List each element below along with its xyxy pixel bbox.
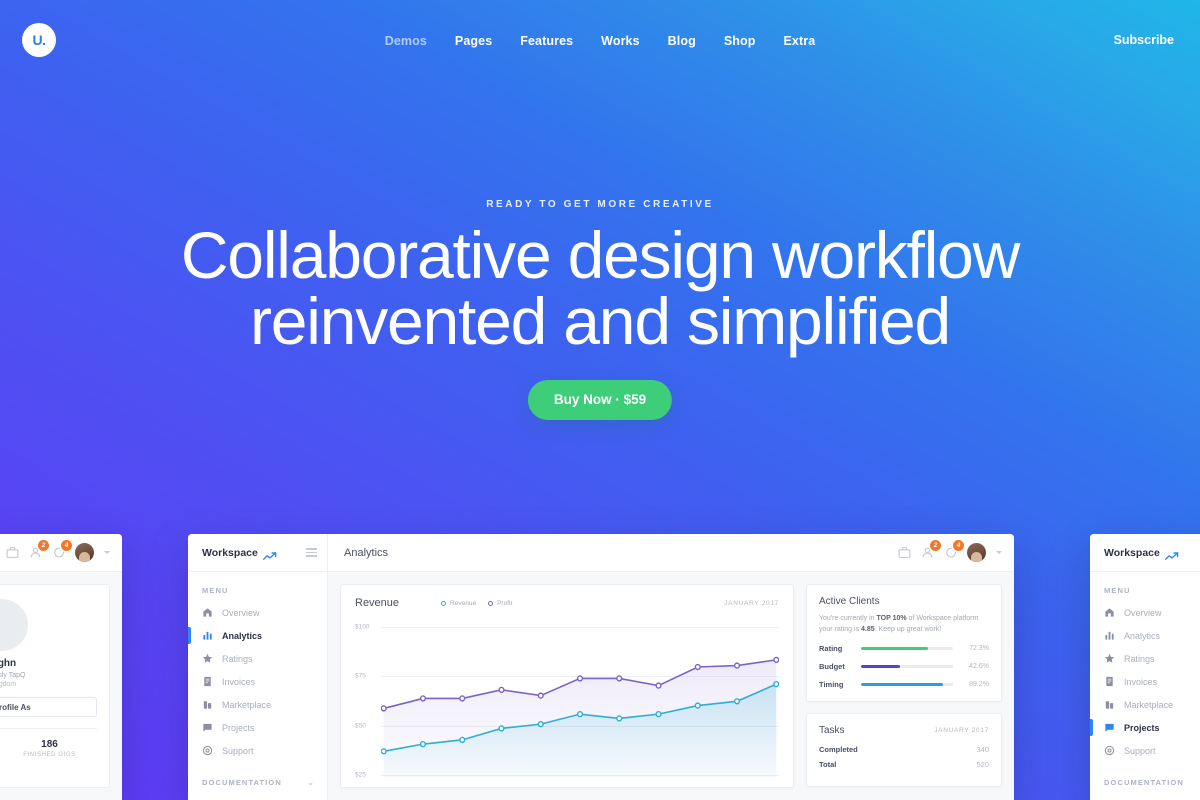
mock-right-topbar: Workspace: [1090, 534, 1200, 572]
y-tick-label: $75: [355, 673, 366, 680]
messages-badge: 4: [953, 540, 964, 551]
bar-chart-icon: [202, 630, 213, 641]
legend-item-profit[interactable]: Profit: [488, 600, 512, 607]
invoice-icon: [1104, 676, 1115, 687]
avatar[interactable]: [75, 543, 94, 562]
nav-item-works[interactable]: Works: [587, 34, 653, 48]
sidebar-item-ratings[interactable]: Ratings: [1090, 647, 1200, 670]
chart-plot-area: $100 $75 $50 $25: [355, 617, 779, 777]
sidebar-item-invoices[interactable]: Invoices: [1090, 670, 1200, 693]
profile-avatar: [0, 599, 28, 651]
buy-now-button[interactable]: Buy Now · $59: [528, 380, 672, 420]
chevron-down-icon: ⌄: [307, 778, 315, 787]
tasks-row-completed: Completed 340: [819, 745, 989, 754]
nav-item-blog[interactable]: Blog: [654, 34, 710, 48]
desc-top-percent: TOP 10%: [877, 615, 907, 622]
metric-value: 72.3%: [961, 645, 989, 652]
metric-label: Rating: [819, 644, 853, 653]
chevron-down-icon[interactable]: [104, 551, 110, 554]
sidebar-item-label: Marketplace: [1124, 700, 1173, 710]
chart-header: Revenue Revenue Profit JANUARY 2017: [355, 597, 779, 609]
active-clients-description: You're currently in TOP 10% of Workspace…: [819, 613, 989, 635]
desc-rating: 4.85: [861, 626, 875, 633]
metric-timing: Timing 89.2%: [819, 680, 989, 689]
logo-text: U.: [33, 32, 46, 48]
mock-left-topbar: 2 4: [0, 534, 122, 572]
contacts-badge: 2: [930, 540, 941, 551]
sidebar-item-label: Ratings: [222, 654, 253, 664]
sidebar-item-label: Support: [222, 746, 254, 756]
sidebar-item-label: Analytics: [222, 631, 262, 641]
lifebuoy-icon: [1104, 745, 1115, 756]
headline-line-1: Collaborative design workflow: [181, 218, 1019, 292]
briefcase-icon[interactable]: [898, 546, 911, 559]
tasks-row-value: 340: [976, 745, 989, 754]
sidebar-item-analytics[interactable]: Analytics: [188, 624, 327, 647]
sidebar-item-overview[interactable]: Overview: [188, 601, 327, 624]
chart-title: Revenue: [355, 597, 399, 609]
sidebar-item-marketplace[interactable]: Marketplace: [188, 693, 327, 716]
dashboard-right-column: Active Clients You're currently in TOP 1…: [806, 584, 1002, 788]
invoice-icon: [202, 676, 213, 687]
metric-track: [861, 647, 953, 651]
page-title: Analytics: [328, 547, 898, 559]
logo[interactable]: U.: [22, 23, 56, 57]
sidebar-item-invoices[interactable]: Invoices: [188, 670, 327, 693]
chart-svg-wrapper: [381, 617, 779, 777]
metric-value: 42.6%: [961, 663, 989, 670]
sidebar-item-analytics[interactable]: Analytics: [1090, 624, 1200, 647]
building-icon: [202, 699, 213, 710]
nav-item-extra[interactable]: Extra: [769, 34, 829, 48]
metric-rating: Rating 72.3%: [819, 644, 989, 653]
nav-item-shop[interactable]: Shop: [710, 34, 770, 48]
star-icon: [1104, 653, 1115, 664]
sidebar-docs-heading[interactable]: DOCUMENTATION ⌄: [1090, 762, 1200, 793]
profile-subtitle: …viously TapQ: [0, 672, 97, 679]
sidebar-item-label: Overview: [1124, 608, 1162, 618]
sidebar-item-projects[interactable]: Projects: [1090, 716, 1200, 739]
legend-label: Profit: [497, 600, 512, 607]
contacts-icon[interactable]: 2: [921, 546, 934, 559]
hero-section: U. Demos Pages Features Works Blog Shop …: [0, 0, 1200, 800]
metric-budget: Budget 42.6%: [819, 662, 989, 671]
contacts-badge: 2: [38, 540, 49, 551]
nav-item-features[interactable]: Features: [506, 34, 587, 48]
active-clients-title: Active Clients: [819, 596, 989, 607]
view-profile-as-button[interactable]: View Profile As: [0, 697, 97, 717]
dashboard-mock-left: 2 4 …ghn …viously TapQ …ngdom View Profi…: [0, 534, 122, 800]
profile-location: …ngdom: [0, 681, 97, 688]
messages-badge: 4: [61, 540, 72, 551]
tasks-row-label: Total: [819, 760, 836, 769]
home-icon: [202, 607, 213, 618]
active-clients-card: Active Clients You're currently in TOP 1…: [806, 584, 1002, 702]
nav-item-pages[interactable]: Pages: [441, 34, 506, 48]
legend-item-revenue[interactable]: Revenue: [441, 600, 476, 607]
chat-icon: [202, 722, 213, 733]
top-navigation: U. Demos Pages Features Works Blog Shop …: [0, 0, 1200, 82]
profile-name: …ghn: [0, 658, 97, 669]
profile-card: …ghn …viously TapQ …ngdom View Profile A…: [0, 584, 110, 788]
sidebar-item-support[interactable]: Support: [188, 739, 327, 762]
sidebar-menu-heading: MENU: [188, 586, 327, 601]
tasks-row-label: Completed: [819, 745, 858, 754]
messages-icon[interactable]: 4: [52, 546, 65, 559]
trend-up-icon: [263, 548, 277, 557]
messages-icon[interactable]: 4: [944, 546, 957, 559]
tasks-header: Tasks JANUARY 2017: [819, 725, 989, 736]
metric-track: [861, 683, 953, 687]
metric-label: Timing: [819, 680, 853, 689]
chat-icon: [1104, 722, 1115, 733]
tasks-title: Tasks: [819, 725, 845, 736]
chart-date-label: JANUARY 2017: [724, 600, 779, 607]
sidebar-item-label: Ratings: [1124, 654, 1155, 664]
sidebar-item-label: Projects: [1124, 723, 1160, 733]
metric-fill: [861, 647, 928, 651]
sidebar-item-label: Invoices: [222, 677, 255, 687]
subscribe-link[interactable]: Subscribe: [1114, 33, 1174, 47]
workspace-brand[interactable]: Workspace: [1090, 534, 1200, 572]
profile-stat-number: 186: [2, 739, 97, 750]
sidebar-item-marketplace[interactable]: Marketplace: [1090, 693, 1200, 716]
tasks-date-label: JANUARY 2017: [934, 727, 989, 734]
y-tick-label: $25: [355, 772, 366, 779]
trend-up-icon: [1165, 548, 1179, 557]
building-icon: [1104, 699, 1115, 710]
sidebar-item-label: Support: [1124, 746, 1156, 756]
metric-label: Budget: [819, 662, 853, 671]
home-icon: [1104, 607, 1115, 618]
revenue-chart-card: Revenue Revenue Profit JANUARY 2017: [340, 584, 794, 788]
sidebar-item-projects[interactable]: Projects: [188, 716, 327, 739]
profile-stats: 4 …NTS 186 FINISHED GIGS: [0, 728, 97, 758]
workspace-brand-name: Workspace: [202, 547, 258, 559]
metric-fill: [861, 665, 900, 669]
dashboard-mock-right: Workspace MENU Overview Analytics: [1090, 534, 1200, 800]
chart-legend: Revenue Profit: [441, 600, 512, 607]
sidebar-docs-label: DOCUMENTATION: [1104, 778, 1184, 787]
sidebar-right: MENU Overview Analytics Ratings Invoices: [1090, 572, 1200, 800]
hero-eyebrow: READY TO GET MORE CREATIVE: [0, 199, 1200, 210]
sidebar-item-label: Analytics: [1124, 631, 1160, 641]
hero-headline: Collaborative design workflow reinvented…: [0, 222, 1200, 354]
workspace-brand-name: Workspace: [1104, 547, 1160, 559]
nav-menu: Demos Pages Features Works Blog Shop Ext…: [371, 34, 830, 48]
metric-value: 89.2%: [961, 681, 989, 688]
metric-fill: [861, 683, 943, 687]
dashboard-topbar: Workspace Analytics 2 4: [188, 534, 1014, 572]
sidebar-menu-heading: MENU: [1090, 586, 1200, 601]
star-icon: [202, 653, 213, 664]
topbar-actions: 2 4: [898, 543, 1014, 562]
desc-part: . Keep up great work!: [875, 626, 942, 633]
sidebar-item-label: Projects: [222, 723, 255, 733]
sidebar-item-label: Overview: [222, 608, 260, 618]
profile-stat: 186 FINISHED GIGS: [2, 739, 97, 758]
sidebar-item-overview[interactable]: Overview: [1090, 601, 1200, 624]
headline-line-2: reinvented and simplified: [0, 288, 1200, 354]
desc-part: You're currently in: [819, 615, 877, 622]
dashboard-content: Revenue Revenue Profit JANUARY 2017: [328, 572, 1014, 800]
y-tick-label: $50: [355, 722, 366, 729]
sidebar-toggle-icon[interactable]: [306, 548, 317, 556]
tasks-row-total: Total 520: [819, 760, 989, 769]
revenue-line-chart: [381, 617, 779, 777]
profile-panel: …ghn …viously TapQ …ngdom View Profile A…: [0, 572, 122, 800]
avatar[interactable]: [967, 543, 986, 562]
lifebuoy-icon: [202, 745, 213, 756]
dashboard-mock-center: Workspace Analytics 2 4: [188, 534, 1014, 800]
contacts-icon[interactable]: 2: [29, 546, 42, 559]
sidebar-docs-label: DOCUMENTATION: [202, 778, 282, 787]
briefcase-icon[interactable]: [6, 546, 19, 559]
legend-label: Revenue: [450, 600, 476, 607]
nav-item-demos[interactable]: Demos: [371, 34, 441, 48]
sidebar: MENU Overview Analytics Ratings Invoices: [188, 572, 328, 800]
sidebar-item-label: Marketplace: [222, 700, 271, 710]
sidebar-item-label: Invoices: [1124, 677, 1157, 687]
chevron-down-icon[interactable]: [996, 551, 1002, 554]
profile-stat-label: FINISHED GIGS: [2, 752, 97, 758]
legend-dot-icon: [441, 601, 446, 606]
sidebar-docs-heading[interactable]: DOCUMENTATION ⌄: [188, 762, 327, 793]
workspace-brand[interactable]: Workspace: [188, 534, 328, 572]
sidebar-item-support[interactable]: Support: [1090, 739, 1200, 762]
legend-dot-icon: [488, 601, 493, 606]
y-tick-label: $100: [355, 623, 369, 630]
tasks-row-value: 520: [976, 760, 989, 769]
metric-track: [861, 665, 953, 669]
bar-chart-icon: [1104, 630, 1115, 641]
tasks-card: Tasks JANUARY 2017 Completed 340 Total 5…: [806, 713, 1002, 787]
sidebar-item-ratings[interactable]: Ratings: [188, 647, 327, 670]
